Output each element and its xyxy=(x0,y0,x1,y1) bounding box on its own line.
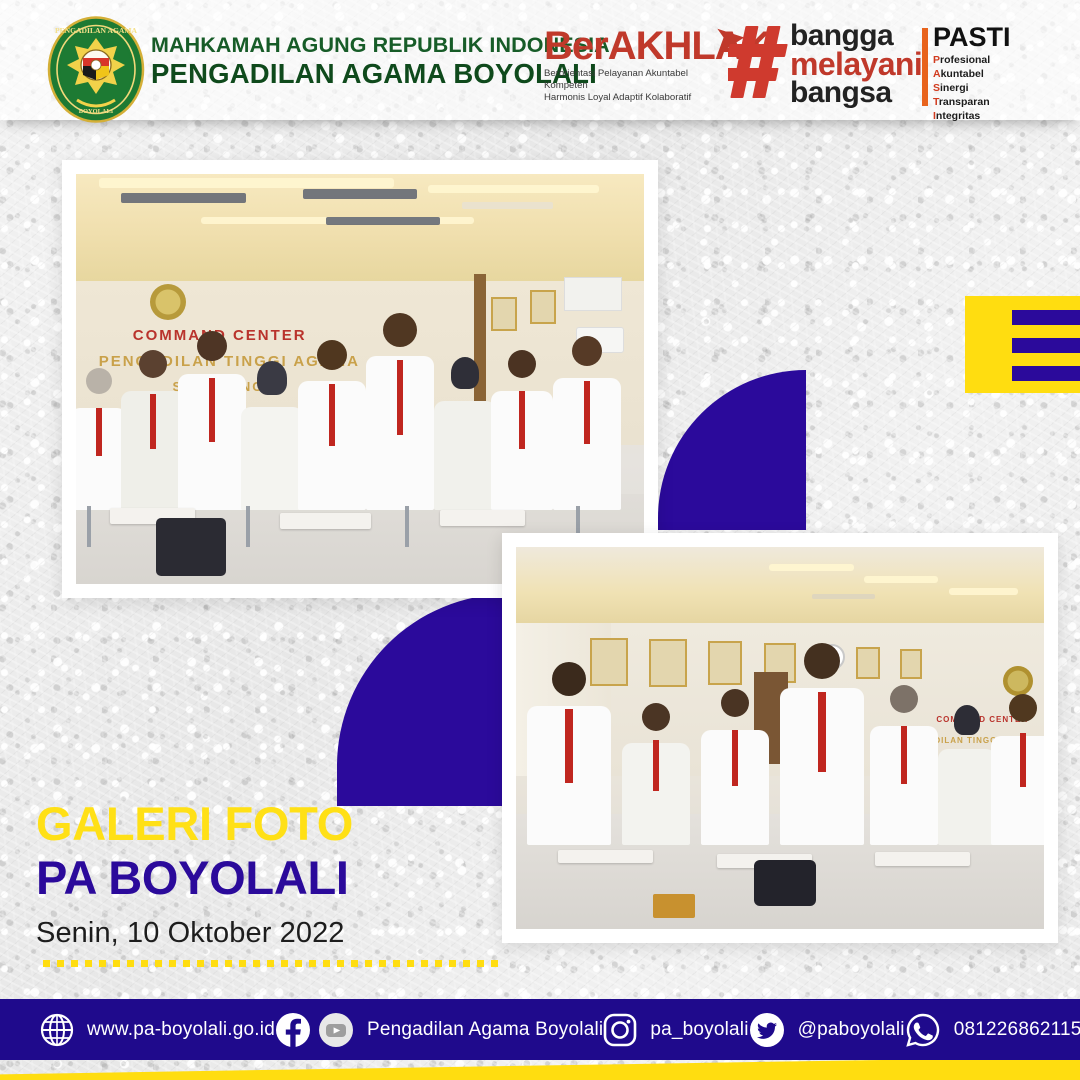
yellow-equals-decor xyxy=(965,296,1080,393)
pasti-divider xyxy=(922,28,928,106)
hashtag-icon xyxy=(728,24,796,100)
page-subtitle: PA BOYOLALI xyxy=(36,854,353,902)
svg-text:PENGADILAN AGAMA: PENGADILAN AGAMA xyxy=(55,26,138,35)
court-title-line1: MAHKAMAH AGUNG REPUBLIK INDONESIA xyxy=(151,34,610,57)
court-title-line2: PENGADILAN AGAMA BOYOLALI xyxy=(151,59,610,90)
photo-image-bottom: COMMAND CENTER PENGADILAN TINGGI AGAMA xyxy=(516,547,1044,929)
title-block: GALERI FOTO PA BOYOLALI Senin, 10 Oktobe… xyxy=(36,800,353,950)
court-seal-logo: PENGADILAN AGAMA BOYOLALI xyxy=(47,16,145,123)
svg-text:BOYOLALI: BOYOLALI xyxy=(79,108,114,115)
dotted-divider xyxy=(43,960,501,967)
pasti-item-1: Akuntabel xyxy=(933,68,1011,82)
instagram-icon xyxy=(603,1013,637,1047)
pasti-list: Profesional Akuntabel Sinergi Transparan… xyxy=(933,54,1011,124)
berakhlak-wordmark: BerAKHLAK xyxy=(544,27,724,65)
berakhlak-values-line2: Harmonis Loyal Adaptif Kolaboratif xyxy=(544,92,724,104)
footer-whatsapp-label: 081226862115 xyxy=(954,1019,1080,1041)
decor-bar-2 xyxy=(1012,338,1080,353)
whatsapp-icon xyxy=(905,1012,941,1048)
globe-icon xyxy=(40,1013,74,1047)
pasti-logo: PASTI Profesional Akuntabel Sinergi Tran… xyxy=(933,24,1011,124)
poster-canvas: COMMAND CENTER PENGADILAN TINGGI AGAMA S… xyxy=(0,0,1080,1080)
court-title: MAHKAMAH AGUNG REPUBLIK INDONESIA PENGAD… xyxy=(151,34,610,89)
footer-social[interactable]: Pengadilan Agama Boyolali xyxy=(275,1012,603,1048)
poster-header: PENGADILAN AGAMA BOYOLALI MAHKAMAH AGUNG… xyxy=(0,0,1080,120)
berakhlak-values-line1: Berorientasi Pelayanan Akuntabel Kompete… xyxy=(544,68,724,92)
pasti-item-2: Sinergi xyxy=(933,82,1011,96)
berakhlak-values: Berorientasi Pelayanan Akuntabel Kompete… xyxy=(544,68,724,104)
footer-contact-bar: www.pa-boyolali.go.id Pengadilan Agama B… xyxy=(0,999,1080,1060)
bangga-melayani-bangsa-logo: bangga melayani bangsa xyxy=(790,22,922,107)
decor-bar-1 xyxy=(1012,310,1080,325)
photo-image-top: COMMAND CENTER PENGADILAN TINGGI AGAMA S… xyxy=(76,174,644,584)
footer-instagram-label: pa_boyolali xyxy=(650,1019,748,1041)
berakhlak-prefix: Ber xyxy=(544,24,608,68)
bangga-line2: melayani xyxy=(790,50,922,79)
bangga-line3: bangsa xyxy=(790,79,922,107)
twitter-icon xyxy=(749,1012,785,1048)
pasti-item-0: Profesional xyxy=(933,54,1011,68)
event-date: Senin, 10 Oktober 2022 xyxy=(36,917,353,950)
decor-bar-3 xyxy=(1012,366,1080,381)
footer-website[interactable]: www.pa-boyolali.go.id xyxy=(40,1013,275,1047)
page-title: GALERI FOTO xyxy=(36,800,353,848)
footer-social-label: Pengadilan Agama Boyolali xyxy=(367,1019,603,1041)
berakhlak-logo: BerAKHLAK Berorientasi Pelayanan Akuntab… xyxy=(544,27,724,104)
footer-instagram[interactable]: pa_boyolali xyxy=(603,1013,748,1047)
footer-whatsapp[interactable]: 081226862115 xyxy=(905,1012,1080,1048)
pasti-item-4: Integritas xyxy=(933,110,1011,124)
photo-card-bottom[interactable]: COMMAND CENTER PENGADILAN TINGGI AGAMA xyxy=(502,533,1058,943)
facebook-icon[interactable] xyxy=(275,1012,311,1048)
pasti-title: PASTI xyxy=(933,24,1011,51)
youtube-icon[interactable] xyxy=(318,1012,354,1048)
footer-twitter-label: @paboyolali xyxy=(798,1019,905,1041)
footer-website-label: www.pa-boyolali.go.id xyxy=(87,1019,275,1041)
footer-twitter[interactable]: @paboyolali xyxy=(749,1012,905,1048)
pasti-item-3: Transparan xyxy=(933,96,1011,110)
